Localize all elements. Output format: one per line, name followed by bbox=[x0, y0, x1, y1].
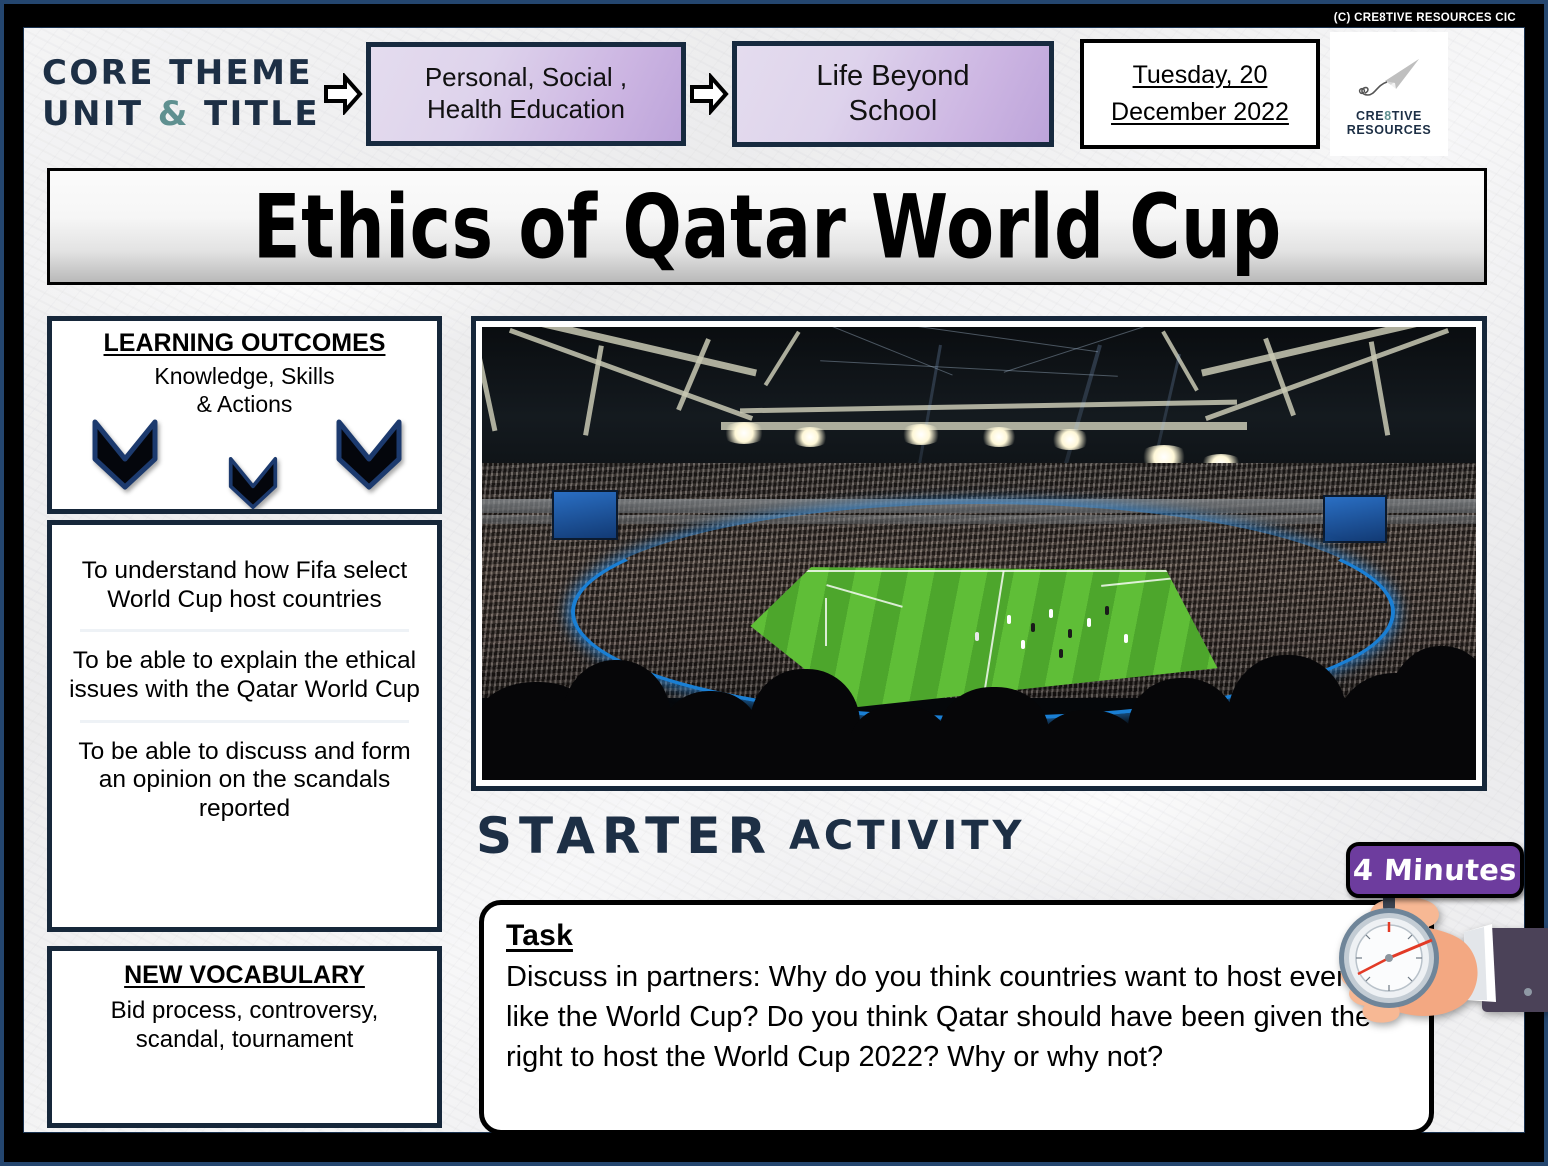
objective-divider bbox=[80, 629, 409, 632]
core-theme-label: CORE THEME UNIT & TITLE bbox=[42, 53, 320, 133]
hand-stopwatch-illustration bbox=[1314, 880, 1548, 1050]
arrow-right-icon-1 bbox=[320, 73, 366, 115]
timer-badge[interactable]: 4 Minutes bbox=[1346, 842, 1524, 898]
activity-word: ACTIVITY bbox=[789, 816, 1026, 856]
unit-chip-label: Life Beyond School bbox=[816, 59, 969, 129]
chevron-down-icon-middle bbox=[227, 455, 279, 511]
cre8tive-resources-logo: CRE8TIVE RESOURCES bbox=[1330, 32, 1448, 156]
new-vocabulary-box: NEW VOCABULARY Bid process, controversy,… bbox=[47, 946, 442, 1128]
core-theme-line2: UNIT & TITLE bbox=[42, 94, 320, 134]
timer-label: 4 Minutes bbox=[1352, 853, 1518, 887]
subject-chip-label: Personal, Social , Health Education bbox=[425, 62, 627, 124]
date-line-2: December 2022 bbox=[1111, 98, 1289, 126]
copyright-bar: (C) CRE8TIVE RESOURCES CIC bbox=[24, 8, 1524, 27]
slide-content-area: CORE THEME UNIT & TITLE Personal, Social… bbox=[24, 28, 1524, 1132]
objective-item: To understand how Fifa select World Cup … bbox=[64, 551, 425, 620]
unit-chip[interactable]: Life Beyond School bbox=[732, 41, 1054, 147]
ampersand: & bbox=[158, 94, 190, 134]
scoreboard-right bbox=[1323, 495, 1387, 543]
starter-word: STARTER bbox=[476, 811, 773, 861]
starter-activity-heading: STARTER ACTIVITY bbox=[476, 803, 1486, 869]
task-description: Discuss in partners: Why do you think co… bbox=[506, 957, 1407, 1077]
objective-divider bbox=[80, 720, 409, 723]
learning-outcomes-subheading: Knowledge, Skills & Actions bbox=[52, 362, 437, 418]
scoreboard-left bbox=[552, 490, 618, 540]
chevron-down-icon-right bbox=[334, 417, 404, 492]
vocabulary-list: Bid process, controversy, scandal, tourn… bbox=[52, 996, 437, 1055]
subject-chip[interactable]: Personal, Social , Health Education bbox=[366, 42, 686, 146]
learning-outcomes-heading: LEARNING OUTCOMES bbox=[52, 329, 437, 358]
date-line-1: Tuesday, 20 bbox=[1133, 61, 1268, 89]
slide-frame: (C) CRE8TIVE RESOURCES CIC CORE THEME UN… bbox=[0, 0, 1548, 1166]
header-row: CORE THEME UNIT & TITLE Personal, Social… bbox=[24, 28, 1524, 159]
task-box: Task Discuss in partners: Why do you thi… bbox=[479, 900, 1434, 1135]
stadium-photo bbox=[482, 327, 1476, 780]
page-title: Ethics of Qatar World Cup bbox=[253, 175, 1282, 277]
logo-text: CRE8TIVE RESOURCES bbox=[1347, 109, 1432, 137]
chevron-down-icon-left bbox=[90, 417, 160, 492]
stadium-image-panel bbox=[471, 316, 1487, 791]
date-box: Tuesday, 20 December 2022 bbox=[1080, 39, 1320, 149]
task-heading: Task bbox=[506, 919, 1407, 953]
objectives-box: To understand how Fifa select World Cup … bbox=[47, 520, 442, 932]
objective-item: To be able to explain the ethical issues… bbox=[64, 641, 425, 710]
vocabulary-heading: NEW VOCABULARY bbox=[52, 961, 437, 990]
paper-plane-icon bbox=[1351, 51, 1427, 105]
core-theme-line1: CORE THEME bbox=[42, 53, 320, 93]
learning-outcomes-box: LEARNING OUTCOMES Knowledge, Skills & Ac… bbox=[47, 316, 442, 514]
objective-item: To be able to discuss and form an opinio… bbox=[64, 732, 425, 830]
title-banner: Ethics of Qatar World Cup bbox=[47, 168, 1487, 285]
arrow-right-icon-2 bbox=[686, 73, 732, 115]
